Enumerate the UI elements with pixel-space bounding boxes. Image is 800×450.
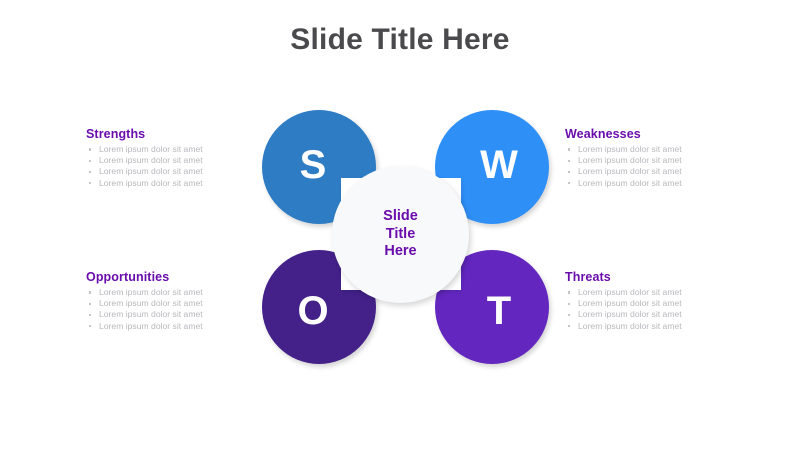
list-item: Lorem ipsum dolor sit amet — [565, 155, 765, 166]
list-item-label: Lorem ipsum dolor sit amet — [99, 309, 203, 319]
list-item: Lorem ipsum dolor sit amet — [565, 144, 765, 155]
bullet-icon — [89, 171, 91, 173]
list-item: Lorem ipsum dolor sit amet — [565, 166, 765, 177]
list-item-label: Lorem ipsum dolor sit amet — [578, 166, 682, 176]
list-item-label: Lorem ipsum dolor sit amet — [578, 321, 682, 331]
list-item: Lorem ipsum dolor sit amet — [565, 298, 765, 309]
list-item: Lorem ipsum dolor sit amet — [565, 178, 765, 189]
list-item-label: Lorem ipsum dolor sit amet — [578, 178, 682, 188]
bullet-icon — [89, 314, 91, 316]
bullet-icon — [568, 160, 570, 162]
list-item-label: Lorem ipsum dolor sit amet — [99, 155, 203, 165]
list-item-label: Lorem ipsum dolor sit amet — [578, 298, 682, 308]
heading-weaknesses: Weaknesses — [565, 127, 765, 141]
bullet-icon — [89, 148, 91, 150]
center-title-line-1: Slide — [383, 208, 418, 226]
page-title: Slide Title Here — [0, 23, 800, 57]
center-circle-title[interactable]: Slide Title Here — [332, 166, 469, 303]
slide-canvas: Slide Title Here Strengths Lorem ipsum d… — [0, 0, 800, 450]
swot-letter-s: S — [300, 145, 327, 185]
bullet-icon — [89, 291, 91, 293]
bullet-icon — [568, 171, 570, 173]
center-title-line-3: Here — [384, 243, 416, 261]
list-item: Lorem ipsum dolor sit amet — [565, 309, 765, 320]
list-item-label: Lorem ipsum dolor sit amet — [99, 166, 203, 176]
bullet-icon — [568, 314, 570, 316]
list-item-label: Lorem ipsum dolor sit amet — [99, 321, 203, 331]
list-item-label: Lorem ipsum dolor sit amet — [578, 287, 682, 297]
list-item-label: Lorem ipsum dolor sit amet — [578, 309, 682, 319]
bullet-icon — [89, 160, 91, 162]
list-item-label: Lorem ipsum dolor sit amet — [578, 144, 682, 154]
bullet-list-weaknesses: Lorem ipsum dolor sit amet Lorem ipsum d… — [565, 144, 765, 189]
list-item: Lorem ipsum dolor sit amet — [565, 321, 765, 332]
list-item: Lorem ipsum dolor sit amet — [565, 287, 765, 298]
bullet-icon — [89, 182, 91, 184]
list-item-label: Lorem ipsum dolor sit amet — [99, 298, 203, 308]
bullet-icon — [89, 303, 91, 305]
center-title-line-2: Title — [386, 226, 416, 244]
swot-letter-t: T — [487, 291, 511, 331]
text-block-threats: Threats Lorem ipsum dolor sit amet Lorem… — [565, 270, 765, 332]
swot-letter-o: O — [297, 291, 328, 331]
bullet-list-threats: Lorem ipsum dolor sit amet Lorem ipsum d… — [565, 287, 765, 332]
list-item-label: Lorem ipsum dolor sit amet — [99, 144, 203, 154]
bullet-icon — [568, 291, 570, 293]
bullet-icon — [568, 325, 570, 327]
list-item-label: Lorem ipsum dolor sit amet — [578, 155, 682, 165]
swot-letter-w: W — [480, 145, 518, 185]
text-block-weaknesses: Weaknesses Lorem ipsum dolor sit amet Lo… — [565, 127, 765, 189]
list-item-label: Lorem ipsum dolor sit amet — [99, 287, 203, 297]
bullet-icon — [568, 182, 570, 184]
bullet-icon — [568, 303, 570, 305]
swot-diagram: S W O T Slide Title Here — [255, 100, 545, 360]
bullet-icon — [89, 325, 91, 327]
bullet-icon — [568, 148, 570, 150]
list-item-label: Lorem ipsum dolor sit amet — [99, 178, 203, 188]
heading-threats: Threats — [565, 270, 765, 284]
